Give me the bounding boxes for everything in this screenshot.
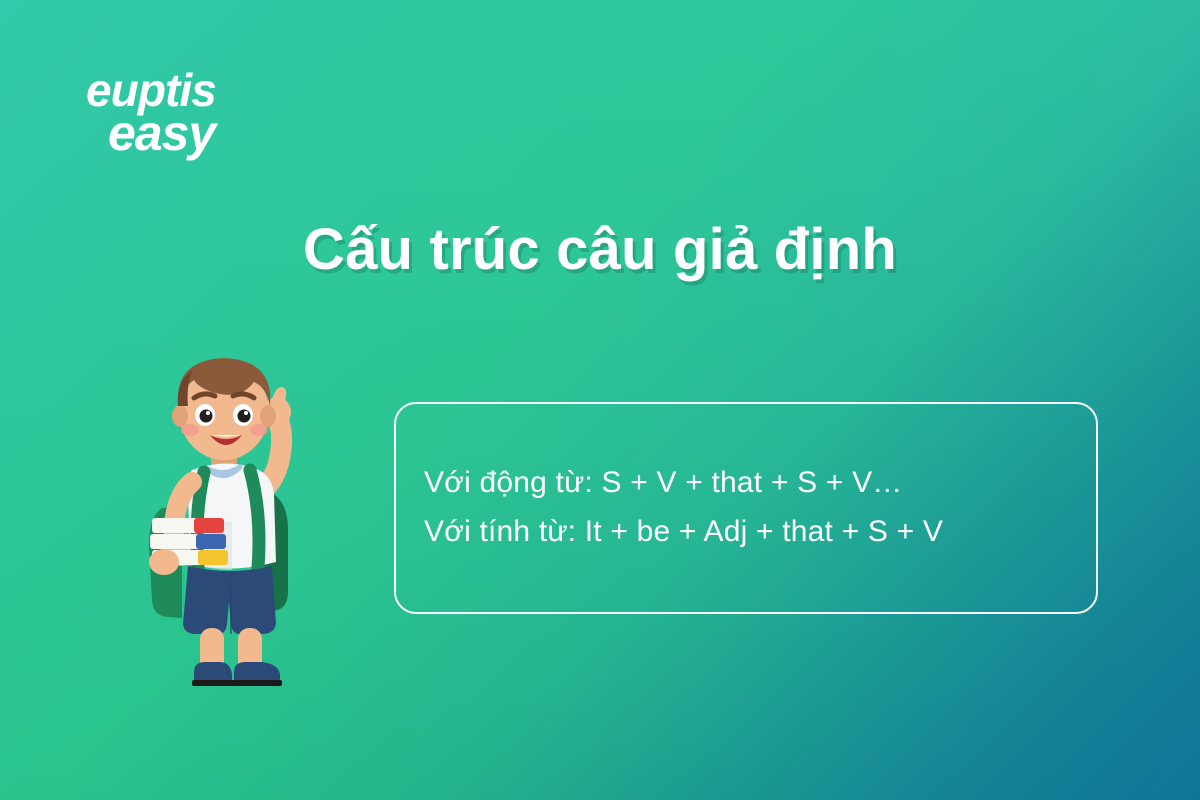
eye-right-glint — [244, 411, 248, 415]
cheek-right — [250, 424, 268, 436]
eye-right-pupil — [238, 410, 251, 423]
formula-box: Với động từ: S + V + that + S + V… Với t… — [394, 402, 1098, 614]
formula-line-verb: Với động từ: S + V + that + S + V… — [424, 459, 902, 508]
page-title: Cấu trúc câu giả định — [0, 218, 1200, 282]
cheek-left — [181, 424, 199, 436]
poster-canvas: euptis easy Cấu trúc câu giả định — [0, 0, 1200, 800]
brand-logo[interactable]: euptis easy — [86, 62, 276, 162]
book-bottom-spine — [198, 550, 228, 565]
shoe-left-sole — [192, 680, 234, 686]
student-boy-illustration — [120, 340, 330, 710]
shoe-left — [194, 662, 232, 680]
ear-right — [260, 405, 276, 427]
book-mid-spine — [196, 534, 226, 549]
shoe-right-sole — [232, 680, 282, 686]
hand — [149, 549, 179, 575]
ear-left — [172, 405, 188, 427]
brand-logo-line2: easy — [108, 105, 218, 161]
book-top-spine — [194, 518, 224, 533]
shorts — [183, 566, 276, 634]
eye-left-glint — [206, 411, 210, 415]
formula-line-adjective: Với tính từ: It + be + Adj + that + S + … — [424, 508, 943, 557]
eye-left-pupil — [200, 410, 213, 423]
shoe-right — [234, 662, 280, 680]
